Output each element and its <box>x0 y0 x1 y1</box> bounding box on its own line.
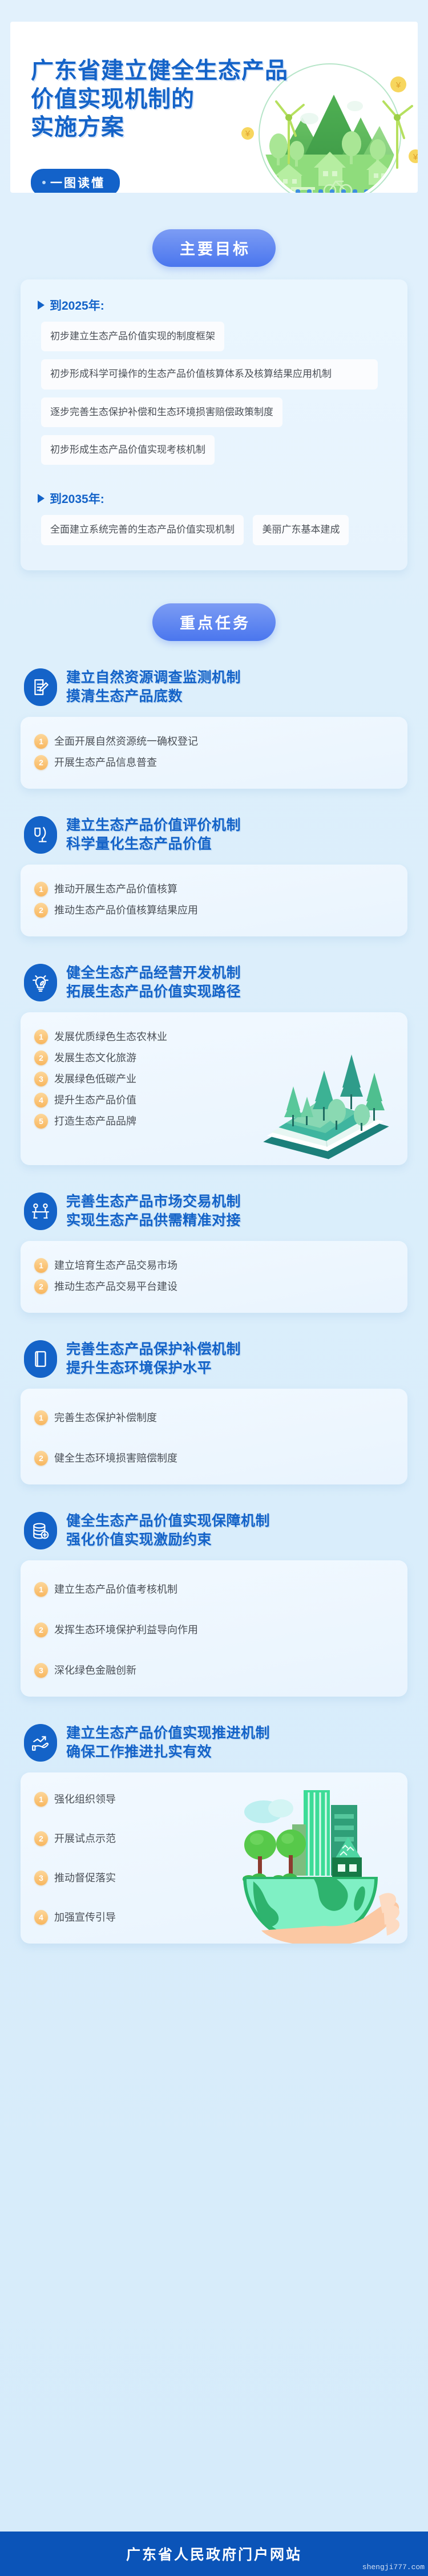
task-item-label: 推动开展生态产品价值核算 <box>54 882 177 897</box>
task-item: 1 建立生态产品价值考核机制 <box>34 1582 395 1597</box>
coins-stack-icon <box>24 1512 57 1549</box>
task-item: 3 发展绿色低碳产业 <box>34 1072 395 1087</box>
task-item-label: 打造生态产品品牌 <box>54 1114 136 1129</box>
badge-dot-icon <box>42 181 46 184</box>
task-item-label: 发挥生态环境保护利益导向作用 <box>54 1622 198 1638</box>
handshake-table-icon <box>24 1192 57 1230</box>
task-card: 1 推动开展生态产品价值核算 2 推动生态产品价值核算结果应用 <box>21 865 407 936</box>
task-header: 健全生态产品经营开发机制 拓展生态产品价值实现路径 <box>21 964 407 1002</box>
item-number-badge: 1 <box>34 1410 48 1425</box>
task-header: 建立生态产品价值评价机制 科学量化生态产品价值 <box>21 816 407 854</box>
goal-item: 逐步完善生态保护补偿和生态环境损害赔偿政策制度 <box>41 397 282 427</box>
task-item-label: 发展生态文化旅游 <box>54 1050 136 1066</box>
goal-item: 初步建立生态产品价值实现的制度框架 <box>41 322 224 351</box>
task-item-label: 建立生态产品价值考核机制 <box>54 1582 177 1597</box>
task-card: 1 发展优质绿色生态农林业 2 发展生态文化旅游 3 发展绿色低碳产业 4 提升… <box>21 1012 407 1165</box>
task-item-label: 开展生态产品信息普查 <box>54 755 157 770</box>
task-item: 1 全面开展自然资源统一确权登记 <box>34 734 395 749</box>
task-item: 2 推动生态产品价值核算结果应用 <box>34 903 395 918</box>
page-title: 广东省建立健全生态产品 价值实现机制的 实施方案 <box>31 57 288 142</box>
task-item-label: 推动生态产品交易平台建设 <box>54 1279 177 1295</box>
document-pen-icon <box>24 668 57 706</box>
item-number-badge: 2 <box>34 903 48 918</box>
item-number-badge: 2 <box>34 1279 48 1294</box>
read-in-one-picture-badge: 一图读懂 <box>31 169 120 193</box>
task-item: 1 推动开展生态产品价值核算 <box>34 882 395 897</box>
task-block-7: 建立生态产品价值实现推进机制 确保工作推进扎实有效 <box>21 1724 407 1944</box>
task-item: 2 开展试点示范 <box>34 1831 395 1847</box>
goal-group-heading-2035: 到2035年: <box>38 490 394 507</box>
task-item: 4 提升生态产品价值 <box>34 1093 395 1108</box>
task-item: 5 打造生态产品品牌 <box>34 1114 395 1129</box>
item-number-badge: 1 <box>34 734 48 749</box>
lightbulb-leaf-icon <box>24 964 57 1001</box>
infographic-page: 广东省建立健全生态产品 价值实现机制的 实施方案 一图读懂 <box>0 0 428 2576</box>
task-item: 2 推动生态产品交易平台建设 <box>34 1279 395 1295</box>
goal-group-heading-2025: 到2025年: <box>38 297 394 314</box>
task-item: 1 强化组织领导 <box>34 1792 395 1807</box>
task-header: 完善生态产品保护补偿机制 提升生态环境保护水平 <box>21 1340 407 1378</box>
svg-text:¥: ¥ <box>413 152 418 162</box>
item-number-badge: 2 <box>34 1831 48 1846</box>
task-item: 3 推动督促落实 <box>34 1871 395 1886</box>
task-title: 完善生态产品市场交易机制 实现生态产品供需精准对接 <box>66 1192 241 1231</box>
tasks-section-header: 重点任务 <box>0 603 428 641</box>
svg-text:¥: ¥ <box>395 80 401 90</box>
task-block-6: 健全生态产品价值实现保障机制 强化价值实现激励约束 1 建立生态产品价值考核机制… <box>21 1512 407 1697</box>
item-number-badge: 1 <box>34 1029 48 1044</box>
task-item-label: 强化组织领导 <box>54 1792 116 1807</box>
task-block-1: 建立自然资源调查监测机制 摸清生态产品底数 1 全面开展自然资源统一确权登记 2… <box>21 668 407 789</box>
footer-bar: 广东省人民政府门户网站 shengji777.com <box>0 2532 428 2576</box>
hero-banner: 广东省建立健全生态产品 价值实现机制的 实施方案 一图读懂 <box>10 22 418 193</box>
item-number-badge: 3 <box>34 1663 48 1678</box>
task-item: 2 开展生态产品信息普查 <box>34 755 395 770</box>
goal-item: 美丽广东基本建成 <box>253 515 349 545</box>
item-number-badge: 4 <box>34 1910 48 1925</box>
task-header: 建立生态产品价值实现推进机制 确保工作推进扎实有效 <box>21 1724 407 1762</box>
goal-heading-label: 到2035年: <box>50 490 104 507</box>
task-item-label: 推动生态产品价值核算结果应用 <box>54 903 198 918</box>
task-card: 1 建立生态产品价值考核机制 2 发挥生态环境保护利益导向作用 3 深化绿色金融… <box>21 1560 407 1697</box>
task-block-3: 健全生态产品经营开发机制 拓展生态产品价值实现路径 <box>21 964 407 1165</box>
task-item: 1 发展优质绿色生态农林业 <box>34 1029 395 1045</box>
goals-pill-label: 主要目标 <box>152 229 276 267</box>
task-header: 健全生态产品价值实现保障机制 强化价值实现激励约束 <box>21 1512 407 1550</box>
task-title: 完善生态产品保护补偿机制 提升生态环境保护水平 <box>66 1340 241 1378</box>
item-number-badge: 1 <box>34 1792 48 1807</box>
item-number-badge: 2 <box>34 1451 48 1466</box>
item-number-badge: 3 <box>34 1871 48 1885</box>
goal-item: 初步形成科学可操作的生态产品价值核算体系及核算结果应用机制 <box>41 359 378 389</box>
task-item-label: 建立培育生态产品交易市场 <box>54 1258 177 1273</box>
goal-item: 初步形成生态产品价值实现考核机制 <box>41 435 215 465</box>
task-item-label: 推动督促落实 <box>54 1871 116 1886</box>
task-block-4: 完善生态产品市场交易机制 实现生态产品供需精准对接 1 建立培育生态产品交易市场… <box>21 1192 407 1313</box>
triangle-bullet-icon <box>38 301 45 310</box>
task-item-label: 发展优质绿色生态农林业 <box>54 1029 167 1045</box>
goal-heading-label: 到2025年: <box>50 297 104 314</box>
task-title: 建立生态产品价值实现推进机制 确保工作推进扎实有效 <box>66 1724 270 1762</box>
task-item: 1 建立培育生态产品交易市场 <box>34 1258 395 1273</box>
task-item-label: 加强宣传引导 <box>54 1910 116 1925</box>
task-item-label: 提升生态产品价值 <box>54 1093 136 1108</box>
task-item-label: 开展试点示范 <box>54 1831 116 1847</box>
task-item: 2 发挥生态环境保护利益导向作用 <box>34 1622 395 1638</box>
task-item: 4 加强宣传引导 <box>34 1910 395 1925</box>
task-block-2: 建立生态产品价值评价机制 科学量化生态产品价值 1 推动开展生态产品价值核算 2… <box>21 816 407 936</box>
item-number-badge: 1 <box>34 882 48 896</box>
goal-item: 全面建立系统完善的生态产品价值实现机制 <box>41 515 244 545</box>
task-item-label: 发展绿色低碳产业 <box>54 1072 136 1087</box>
item-number-badge: 2 <box>34 1622 48 1637</box>
task-item: 3 深化绿色金融创新 <box>34 1663 395 1678</box>
task-card: 1 建立培育生态产品交易市场 2 推动生态产品交易平台建设 <box>21 1241 407 1313</box>
task-block-5: 完善生态产品保护补偿机制 提升生态环境保护水平 1 完善生态保护补偿制度 2 健… <box>21 1340 407 1484</box>
task-item: 1 完善生态保护补偿制度 <box>34 1410 395 1426</box>
task-item-label: 完善生态保护补偿制度 <box>54 1410 157 1426</box>
task-title: 建立生态产品价值评价机制 科学量化生态产品价值 <box>66 816 241 854</box>
task-title: 健全生态产品经营开发机制 拓展生态产品价值实现路径 <box>66 964 241 1002</box>
hand-growth-arrow-icon <box>24 1724 57 1762</box>
item-number-badge: 3 <box>34 1072 48 1086</box>
task-card: 1 完善生态保护补偿制度 2 健全生态环境损害赔偿制度 <box>21 1389 407 1484</box>
task-item: 2 发展生态文化旅游 <box>34 1050 395 1066</box>
task-card: 1 强化组织领导 2 开展试点示范 3 推动督促落实 4 加强宣传引导 <box>21 1772 407 1944</box>
task-card: 1 全面开展自然资源统一确权登记 2 开展生态产品信息普查 <box>21 717 407 789</box>
item-number-badge: 2 <box>34 1050 48 1065</box>
triangle-bullet-icon <box>38 494 45 503</box>
item-number-badge: 4 <box>34 1093 48 1108</box>
task-item-label: 深化绿色金融创新 <box>54 1663 136 1678</box>
task-item: 2 健全生态环境损害赔偿制度 <box>34 1451 395 1466</box>
clipboard-leaf-icon <box>24 816 57 854</box>
goals-section-header: 主要目标 <box>0 229 428 267</box>
task-item-label: 全面开展自然资源统一确权登记 <box>54 734 198 749</box>
task-title: 健全生态产品价值实现保障机制 强化价值实现激励约束 <box>66 1512 270 1550</box>
badge-label: 一图读懂 <box>50 174 105 191</box>
task-header: 完善生态产品市场交易机制 实现生态产品供需精准对接 <box>21 1192 407 1231</box>
item-number-badge: 1 <box>34 1582 48 1597</box>
tasks-pill-label: 重点任务 <box>152 603 276 641</box>
item-number-badge: 5 <box>34 1114 48 1129</box>
task-title: 建立自然资源调查监测机制 摸清生态产品底数 <box>66 668 241 707</box>
task-header: 建立自然资源调查监测机制 摸清生态产品底数 <box>21 668 407 707</box>
item-number-badge: 1 <box>34 1258 48 1273</box>
footer-title: 广东省人民政府门户网站 <box>126 2543 302 2564</box>
watermark-text: shengji777.com <box>362 2563 425 2571</box>
task-item-label: 健全生态环境损害赔偿制度 <box>54 1451 177 1466</box>
goals-card: 到2025年: 初步建立生态产品价值实现的制度框架 初步形成科学可操作的生态产品… <box>21 279 407 570</box>
book-icon <box>24 1340 57 1378</box>
item-number-badge: 2 <box>34 755 48 770</box>
